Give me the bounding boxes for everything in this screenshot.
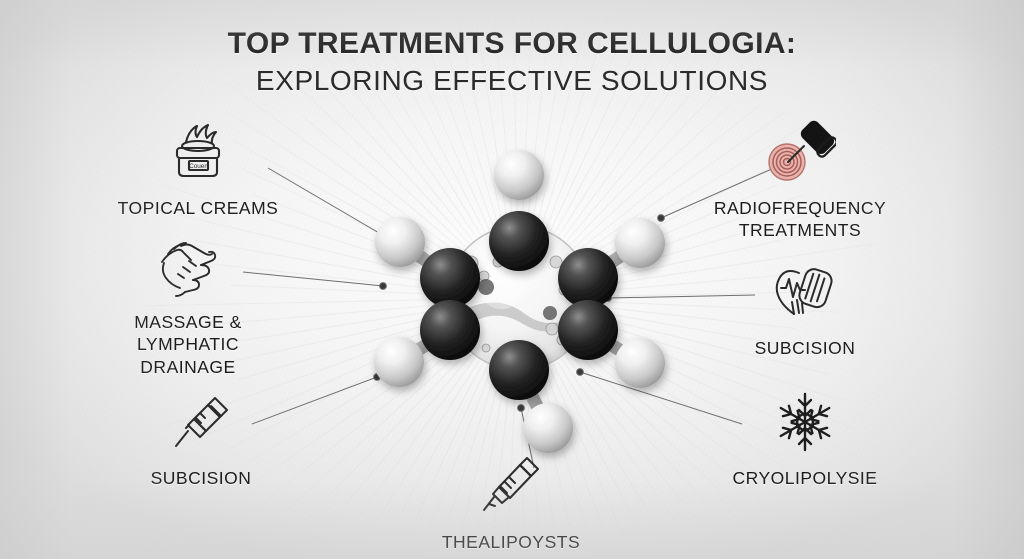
light-atom (523, 403, 573, 453)
node-radiofrequency-treatments[interactable]: RADIOFREQUENCY TREATMENTS (695, 118, 905, 242)
syringe-icon (165, 388, 237, 458)
node-cryolipolysie[interactable]: CRYOLIPOLYSIE (700, 388, 910, 489)
cream-jar-icon: Couen (162, 118, 234, 188)
massaging-hands-icon (152, 232, 224, 302)
light-atom (375, 217, 425, 267)
light-atom (615, 338, 665, 388)
core-sphere (447, 226, 591, 370)
acoustic-wave-device-icon (769, 258, 841, 328)
dark-atom (489, 211, 549, 271)
infographic-canvas: TOP TREATMENTS FOR CELLULOGIA: EXPLORING… (0, 0, 1024, 559)
dark-atom (420, 248, 480, 308)
connector-dot-massage (380, 283, 387, 290)
connector-dot-cryolipolysie (577, 369, 584, 376)
page-title: TOP TREATMENTS FOR CELLULOGIA: (0, 26, 1024, 61)
light-atom (494, 150, 544, 200)
connector-dot-radiofrequency (658, 215, 665, 222)
node-subcision-right[interactable]: SUBCISION (700, 258, 910, 359)
dark-atom (489, 340, 549, 400)
node-label-cryolipolysie: CRYOLIPOLYSIE (733, 467, 878, 489)
page-subtitle: EXPLORING EFFECTIVE SOLUTIONS (0, 63, 1024, 99)
node-massage-lymphatic-drainage[interactable]: MASSAGE & LYMPHATIC DRAINAGE (83, 232, 293, 378)
connector-dot-subcision-right (605, 295, 612, 302)
node-topical-creams[interactable]: Couen TOPICAL CREAMS (93, 118, 303, 219)
connector-dot-topical-creams (383, 234, 390, 241)
dark-atom (558, 300, 618, 360)
node-label-subcision-right: SUBCISION (755, 337, 856, 359)
connector-dot-thealipoysts (518, 405, 525, 412)
node-label-thealipoysts: THEALIPOYSTS (442, 531, 580, 553)
connector-dot-subcision-left (374, 374, 381, 381)
node-label-massage-lymphatic-drainage: MASSAGE & LYMPHATIC DRAINAGE (134, 311, 242, 378)
node-subcision-left[interactable]: SUBCISION (96, 388, 306, 489)
node-label-radiofrequency-treatments: RADIOFREQUENCY TREATMENTS (714, 197, 886, 242)
dark-atom (420, 300, 480, 360)
light-atom (615, 218, 665, 268)
node-label-topical-creams: TOPICAL CREAMS (118, 197, 279, 219)
snowflake-icon (769, 388, 841, 458)
node-label-subcision-left: SUBCISION (151, 467, 252, 489)
cannula-pen-icon (475, 452, 547, 522)
title-block: TOP TREATMENTS FOR CELLULOGIA: EXPLORING… (0, 26, 1024, 100)
node-thealipoysts[interactable]: THEALIPOYSTS (406, 452, 616, 553)
cream-jar-label: Couen (189, 163, 208, 170)
dark-atom (558, 248, 618, 308)
radiofrequency-wand-icon (764, 118, 836, 188)
light-atom (374, 337, 424, 387)
